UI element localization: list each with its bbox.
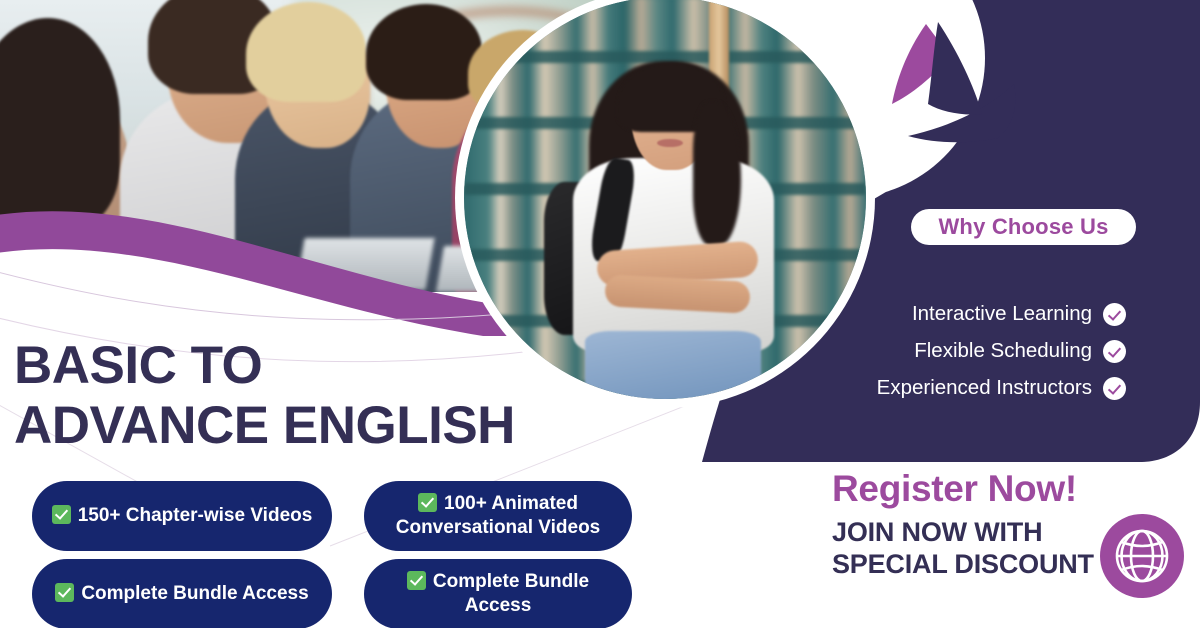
- green-check-icon: [407, 571, 426, 590]
- register-subtitle-line-2: SPECIAL DISCOUNT: [832, 549, 1092, 581]
- register-cta[interactable]: Register Now! JOIN NOW WITH SPECIAL DISC…: [832, 470, 1092, 581]
- feature-pill-label: Complete Bundle Access: [433, 571, 589, 616]
- feature-pill[interactable]: 100+ Animated Conversational Videos: [364, 481, 632, 551]
- register-subtitle-line-1: JOIN NOW WITH: [832, 517, 1092, 549]
- why-choose-us-label: Why Choose Us: [938, 214, 1108, 240]
- photo-student-hair: [246, 2, 366, 102]
- feature-pill[interactable]: Complete Bundle Access: [364, 559, 632, 628]
- feature-pill[interactable]: Complete Bundle Access: [32, 559, 332, 628]
- feature-pill-label: 150+ Chapter-wise Videos: [78, 505, 313, 526]
- feature-pill-label: Complete Bundle Access: [81, 583, 308, 604]
- benefit-item: Experienced Instructors: [877, 376, 1126, 400]
- benefit-list: Interactive Learning Flexible Scheduling…: [726, 302, 1126, 400]
- promo-banner: BASIC TO ADVANCE ENGLISH 150+ Chapter-wi…: [0, 0, 1200, 628]
- benefit-item: Flexible Scheduling: [914, 339, 1126, 363]
- register-subtitle: JOIN NOW WITH SPECIAL DISCOUNT: [832, 517, 1092, 581]
- sailboat-logo: [866, 8, 1056, 168]
- globe-icon: [1100, 514, 1184, 598]
- register-title: Register Now!: [832, 470, 1092, 509]
- green-check-icon: [52, 505, 71, 524]
- check-badge-icon: [1103, 340, 1126, 363]
- why-choose-us-badge: Why Choose Us: [911, 209, 1136, 245]
- check-badge-icon: [1103, 303, 1126, 326]
- benefit-item: Interactive Learning: [912, 302, 1126, 326]
- photo-laptop: [295, 238, 434, 290]
- headline-line-2: ADVANCE ENGLISH: [14, 396, 634, 456]
- benefit-label: Interactive Learning: [912, 302, 1092, 326]
- benefit-label: Flexible Scheduling: [914, 339, 1092, 363]
- benefit-label: Experienced Instructors: [877, 376, 1092, 400]
- feature-pill-list: 150+ Chapter-wise Videos 100+ Animated C…: [32, 481, 632, 628]
- green-check-icon: [418, 493, 437, 512]
- check-badge-icon: [1103, 377, 1126, 400]
- green-check-icon: [55, 583, 74, 602]
- feature-pill[interactable]: 150+ Chapter-wise Videos: [32, 481, 332, 551]
